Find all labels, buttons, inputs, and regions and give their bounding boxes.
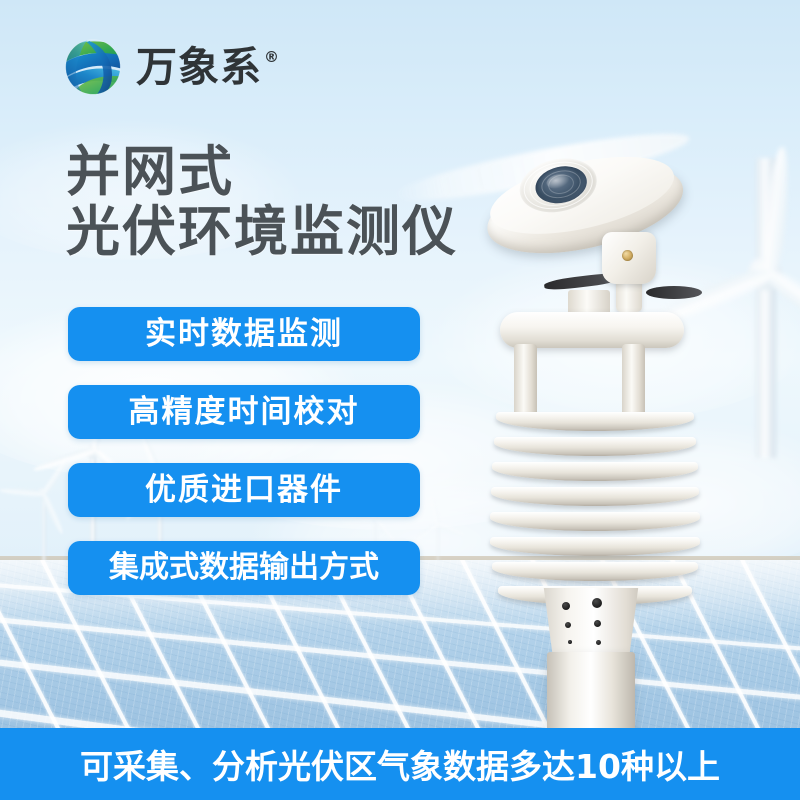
globe-swirl-logo-icon xyxy=(62,36,124,98)
hinge-screw xyxy=(622,250,633,261)
pyranometer-sensor-disc xyxy=(474,127,696,289)
feature-label: 实时数据监测 xyxy=(145,319,343,350)
vent-hole xyxy=(596,640,601,645)
shield-post xyxy=(622,344,645,420)
louvered-radiation-shield xyxy=(488,412,702,600)
brand-logo: 万象系 ® xyxy=(62,36,279,98)
feature-label: 优质进口器件 xyxy=(145,475,343,506)
vent-hole xyxy=(594,620,601,627)
feature-pill-3[interactable]: 优质进口器件 xyxy=(68,463,420,517)
bottom-banner: 可采集、分析光伏区气象数据多达10种以上 xyxy=(0,728,800,800)
sensor-vane xyxy=(646,286,702,299)
title-line-1: 并网式 xyxy=(66,142,458,202)
sensor-crossbar-head xyxy=(500,312,684,348)
banner-text: 可采集、分析光伏区气象数据多达10种以上 xyxy=(80,740,720,788)
page-title: 并网式 光伏环境监测仪 xyxy=(66,142,458,263)
feature-label: 高精度时间校对 xyxy=(129,397,360,428)
product-poster: 万象系 ® 并网式 光伏环境监测仪 实时数据监测 高精度时间校对 优质进口器件 … xyxy=(0,0,800,800)
lower-tapered-body xyxy=(532,588,650,660)
vent-hole xyxy=(568,640,572,644)
vent-hole xyxy=(562,602,570,610)
feature-list: 实时数据监测 高精度时间校对 优质进口器件 集成式数据输出方式 xyxy=(68,307,420,619)
brand-name: 万象系 xyxy=(136,47,262,88)
product-device-image xyxy=(470,140,720,700)
shield-post xyxy=(514,344,537,420)
title-line-2: 光伏环境监测仪 xyxy=(66,202,458,262)
registered-trademark-icon: ® xyxy=(264,48,279,66)
vent-hole xyxy=(592,598,602,608)
feature-pill-2[interactable]: 高精度时间校对 xyxy=(68,385,420,439)
feature-label: 集成式数据输出方式 xyxy=(109,553,379,583)
vent-hole xyxy=(565,622,571,628)
feature-pill-4[interactable]: 集成式数据输出方式 xyxy=(68,541,420,595)
feature-pill-1[interactable]: 实时数据监测 xyxy=(68,307,420,361)
